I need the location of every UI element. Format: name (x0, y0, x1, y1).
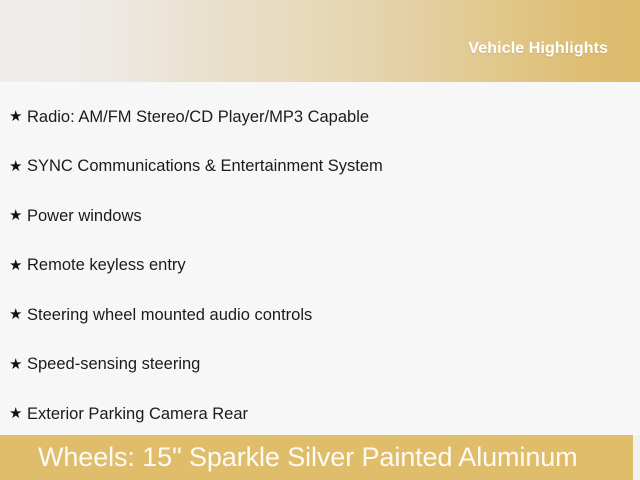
feature-label: Exterior Parking Camera Rear (27, 405, 248, 423)
header-banner: Vehicle Highlights (0, 0, 640, 82)
list-item: ★ Speed-sensing steering (0, 340, 640, 390)
feature-label: Remote keyless entry (27, 256, 186, 274)
star-bullet-icon: ★ (9, 357, 27, 372)
footer-banner-label: Wheels: 15" Sparkle Silver Painted Alumi… (38, 444, 578, 471)
feature-label: Steering wheel mounted audio controls (27, 306, 312, 324)
footer-right-edge-strip (633, 435, 640, 480)
footer-banner: Wheels: 15" Sparkle Silver Painted Alumi… (0, 435, 633, 480)
star-bullet-icon: ★ (9, 159, 27, 174)
vehicle-highlights-slide: Vehicle Highlights ★ Radio: AM/FM Stereo… (0, 0, 640, 480)
features-section: ★ Radio: AM/FM Stereo/CD Player/MP3 Capa… (0, 82, 640, 480)
star-bullet-icon: ★ (9, 208, 27, 223)
list-item: ★ SYNC Communications & Entertainment Sy… (0, 142, 640, 192)
feature-label: SYNC Communications & Entertainment Syst… (27, 157, 383, 175)
star-bullet-icon: ★ (9, 406, 27, 421)
feature-label: Radio: AM/FM Stereo/CD Player/MP3 Capabl… (27, 108, 369, 126)
features-list: ★ Radio: AM/FM Stereo/CD Player/MP3 Capa… (0, 92, 640, 439)
star-bullet-icon: ★ (9, 109, 27, 124)
feature-label: Power windows (27, 207, 142, 225)
list-item: ★ Steering wheel mounted audio controls (0, 290, 640, 340)
list-item: ★ Exterior Parking Camera Rear (0, 389, 640, 439)
star-bullet-icon: ★ (9, 307, 27, 322)
star-bullet-icon: ★ (9, 258, 27, 273)
list-item: ★ Remote keyless entry (0, 241, 640, 291)
list-item: ★ Radio: AM/FM Stereo/CD Player/MP3 Capa… (0, 92, 640, 142)
list-item: ★ Power windows (0, 191, 640, 241)
page-title: Vehicle Highlights (468, 24, 640, 58)
feature-label: Speed-sensing steering (27, 355, 200, 373)
